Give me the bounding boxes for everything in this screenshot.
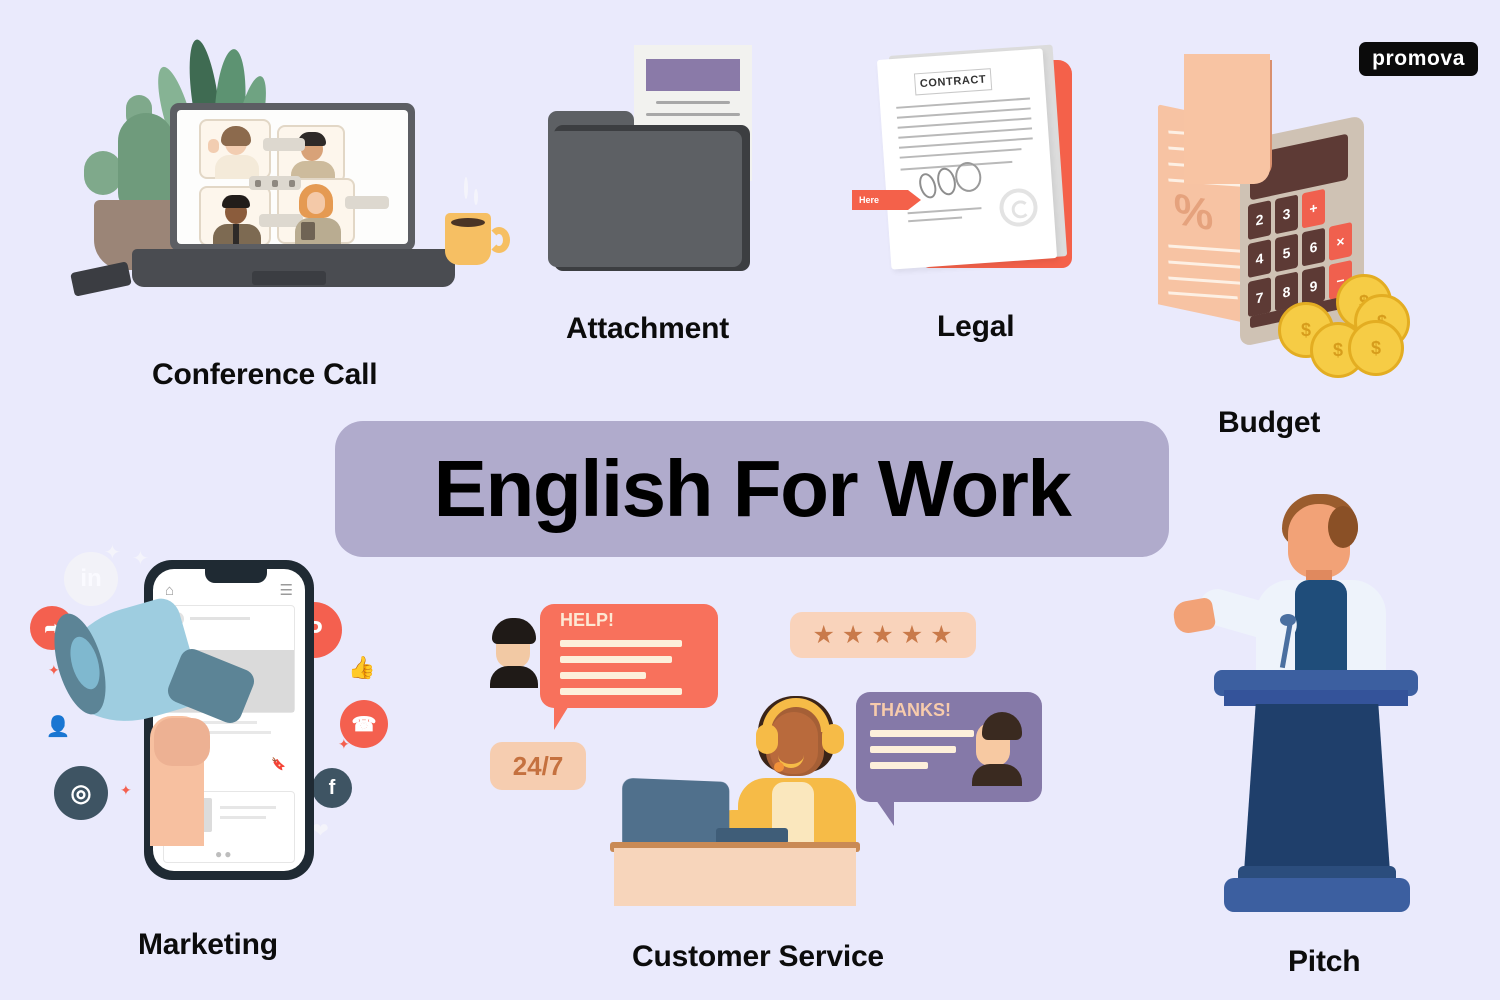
stamp-seal-icon bbox=[998, 187, 1039, 228]
video-tile bbox=[199, 119, 271, 179]
label-customer-service: Customer Service bbox=[632, 940, 884, 974]
hand-fingers bbox=[154, 718, 210, 766]
headset-mic-tip bbox=[774, 762, 784, 772]
paper-tape bbox=[1184, 54, 1270, 184]
contract-text-line bbox=[898, 117, 1032, 128]
title-card: English For Work bbox=[335, 421, 1169, 557]
coin-icon: $ bbox=[1348, 320, 1404, 376]
help-bubble-line bbox=[560, 640, 682, 647]
laptop-screen bbox=[177, 110, 408, 244]
page-dots: ●● bbox=[215, 847, 234, 861]
calculator-key-plus[interactable]: + bbox=[1302, 189, 1325, 229]
illustration-attachment bbox=[548, 45, 764, 295]
rating-badge: ★ ★ ★ ★ ★ bbox=[790, 612, 976, 658]
here-tab-label: Here bbox=[859, 195, 879, 205]
help-bubble-line bbox=[560, 672, 646, 679]
contract-page: CONTRACT bbox=[877, 48, 1057, 269]
contract-text-line bbox=[898, 127, 1032, 138]
mug-handle bbox=[488, 227, 510, 253]
video-tile bbox=[277, 125, 345, 183]
headset-cup-icon bbox=[756, 724, 778, 754]
chat-bubble bbox=[345, 196, 389, 209]
here-sticky-tab: Here bbox=[852, 190, 908, 210]
calculator-key[interactable]: 9 bbox=[1302, 266, 1325, 306]
calculator-key[interactable]: 2 bbox=[1248, 200, 1271, 240]
label-conference-call: Conference Call bbox=[152, 358, 377, 392]
help-bubble-line bbox=[560, 688, 682, 695]
contract-text-line bbox=[897, 107, 1031, 118]
contract-text-line bbox=[908, 216, 962, 221]
contract-text-line bbox=[899, 137, 1033, 148]
label-marketing: Marketing bbox=[138, 928, 278, 962]
thumbs-up-icon[interactable]: 👍 bbox=[342, 648, 382, 688]
laptop-lid bbox=[170, 103, 415, 251]
calculator-key-multiply[interactable]: × bbox=[1329, 222, 1352, 262]
post-text-line bbox=[220, 806, 276, 809]
stamp-seal-inner bbox=[1011, 200, 1030, 219]
menu-icon[interactable]: ☰ bbox=[280, 581, 293, 599]
calculator-key[interactable]: 3 bbox=[1275, 194, 1298, 234]
speaker-hair-curl bbox=[1328, 506, 1358, 548]
cactus-icon bbox=[118, 113, 174, 213]
chat-bubble bbox=[263, 138, 305, 151]
label-pitch: Pitch bbox=[1288, 945, 1360, 979]
agent-laptop bbox=[622, 778, 729, 850]
post-meta-line bbox=[190, 617, 250, 620]
label-budget: Budget bbox=[1218, 406, 1320, 440]
speaker-hand bbox=[1172, 597, 1217, 635]
infographic-canvas: promova English For Work bbox=[0, 0, 1500, 1000]
illustration-customer-service: HELP! ★ ★ ★ ★ ★ THANKS! 24/7 bbox=[478, 600, 1058, 930]
help-bubble-title: HELP! bbox=[560, 610, 614, 631]
here-tab-arrow bbox=[908, 190, 921, 210]
illustration-budget: % 2 3 + 4 5 6 × 7 8 9 − $ $ $ $ $ bbox=[1148, 48, 1418, 388]
participant-hair bbox=[221, 126, 251, 146]
avatar-hair bbox=[492, 618, 536, 644]
sparkle-icon: ✦ bbox=[132, 546, 149, 571]
calculator-key[interactable]: 4 bbox=[1248, 239, 1271, 279]
contract-title-box: CONTRACT bbox=[914, 68, 992, 95]
contract-text-line bbox=[900, 148, 1022, 158]
percent-symbol: % bbox=[1173, 184, 1214, 241]
participant-hair bbox=[222, 195, 250, 208]
podium-base bbox=[1224, 878, 1410, 912]
smartphone-prop bbox=[70, 261, 132, 297]
post-text-line bbox=[220, 816, 266, 819]
steam-icon bbox=[464, 177, 468, 199]
facebook-icon[interactable]: f bbox=[312, 768, 352, 808]
thanks-bubble-line bbox=[870, 730, 974, 737]
star-icon: ★ bbox=[812, 620, 835, 650]
bookmark-icon[interactable]: 🔖 bbox=[271, 757, 286, 771]
customer-avatar-happy bbox=[972, 710, 1024, 782]
avatar-shirt bbox=[972, 764, 1022, 786]
star-icon: ★ bbox=[901, 620, 924, 650]
desk bbox=[614, 848, 856, 906]
participant-tie bbox=[233, 224, 239, 244]
contract-text-line bbox=[896, 97, 1030, 108]
calculator-key[interactable]: 7 bbox=[1248, 277, 1271, 317]
avatar-hair bbox=[982, 712, 1022, 740]
user-icon: 👤 bbox=[40, 708, 76, 744]
coffee-surface bbox=[451, 218, 485, 227]
contract-title: CONTRACT bbox=[919, 73, 986, 90]
page-title: English For Work bbox=[434, 443, 1071, 535]
home-icon[interactable]: ⌂ bbox=[165, 582, 174, 599]
illustration-legal: CONTRACT Here bbox=[862, 42, 1092, 302]
thanks-bubble-line bbox=[870, 762, 928, 769]
camera-icon[interactable] bbox=[272, 180, 278, 187]
steam-icon bbox=[474, 189, 478, 205]
document-text-line bbox=[656, 101, 730, 104]
folder-front bbox=[548, 131, 742, 267]
help-bubble-line bbox=[560, 656, 672, 663]
participant-face bbox=[307, 192, 325, 214]
laptop-trackpad bbox=[252, 271, 326, 285]
star-icon: ★ bbox=[871, 620, 894, 650]
sparkle-icon: ✦ bbox=[120, 782, 132, 799]
participant-tablet bbox=[301, 222, 315, 240]
availability-badge: 24/7 bbox=[490, 742, 586, 790]
illustration-pitch bbox=[1160, 490, 1450, 920]
heart-icon: ❤ bbox=[312, 818, 329, 843]
document-text-line bbox=[646, 113, 740, 116]
phone-icon[interactable] bbox=[289, 180, 295, 187]
instagram-icon[interactable]: ◎ bbox=[54, 766, 108, 820]
thanks-bubble-tail bbox=[876, 800, 894, 826]
illustration-conference-call bbox=[60, 35, 490, 335]
cactus-icon bbox=[84, 151, 122, 195]
customer-avatar-sad bbox=[490, 616, 538, 686]
podium-top-shadow bbox=[1224, 690, 1408, 706]
label-legal: Legal bbox=[937, 310, 1014, 344]
sparkle-icon: ✦ bbox=[104, 540, 121, 565]
illustration-marketing: in ➦ P 👍 ☎ ◎ f 👤 ✦ ✦ ✦ ✦ ✦ ✦ ❤ ⌂ ☰ bbox=[26, 540, 406, 910]
headset-cup-icon bbox=[822, 724, 844, 754]
avatar-shirt bbox=[490, 666, 538, 688]
microphone-icon[interactable] bbox=[255, 180, 261, 187]
phone-notch bbox=[205, 569, 267, 583]
podium-body bbox=[1244, 704, 1390, 872]
label-attachment: Attachment bbox=[566, 312, 729, 346]
thanks-bubble-line bbox=[870, 746, 956, 753]
thanks-bubble-title: THANKS! bbox=[870, 700, 951, 721]
participant-hand bbox=[208, 139, 219, 153]
star-icon: ★ bbox=[930, 620, 953, 650]
document-header-bar bbox=[646, 59, 740, 91]
microphone-icon bbox=[1280, 614, 1296, 626]
calculator-key[interactable]: 6 bbox=[1302, 227, 1325, 267]
receipt-line bbox=[1168, 291, 1238, 299]
call-toolbar[interactable] bbox=[249, 176, 301, 190]
calculator-key[interactable]: 5 bbox=[1275, 233, 1298, 273]
star-icon: ★ bbox=[842, 620, 865, 650]
sparkle-icon: ✦ bbox=[338, 736, 350, 753]
